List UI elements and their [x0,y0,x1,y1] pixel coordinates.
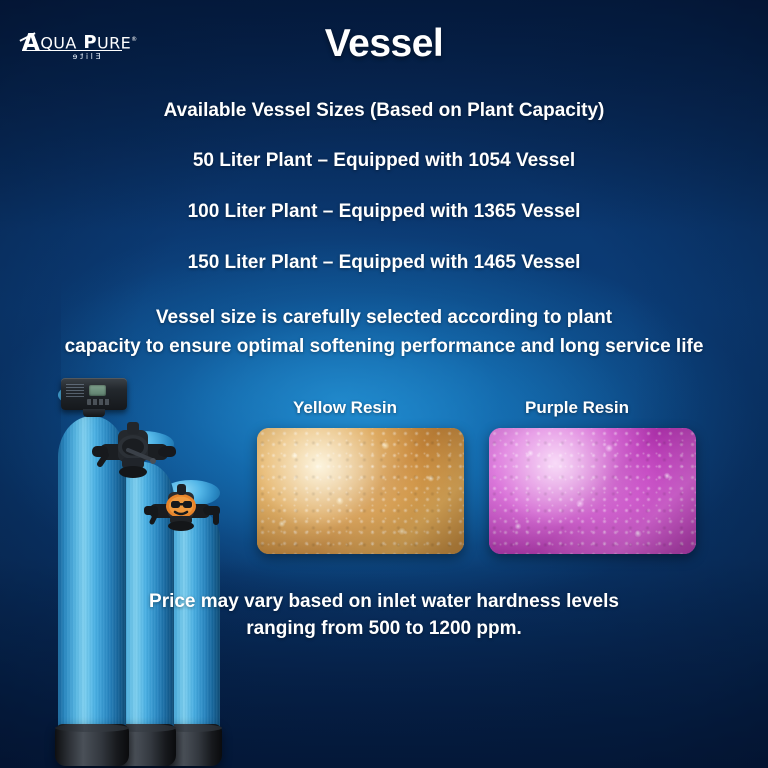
page-title: Vessel [0,22,768,66]
vessel-size-line-1: 50 Liter Plant – Equipped with 1054 Vess… [0,150,768,172]
control-head-buttons [87,399,111,405]
yellow-resin-swatch [257,428,464,554]
purple-resin-swatch [489,428,696,554]
footnote-line-2: ranging from 500 to 1200 ppm. [0,615,768,642]
vessel-size-line-2: 100 Liter Plant – Equipped with 1365 Ves… [0,201,768,223]
control-head-label-panel [66,384,84,397]
yellow-resin-label: Yellow Resin [255,398,435,418]
vessel-size-line-3: 150 Liter Plant – Equipped with 1465 Ves… [0,252,768,274]
purple-resin-label: Purple Resin [487,398,667,418]
purple-swatch-shading [489,428,696,554]
control-head-display [89,385,106,396]
orange-multiport-valve [144,482,220,536]
vessel-selection-note: Vessel size is carefully selected accord… [0,303,768,361]
digital-control-valve-head [61,378,127,410]
note-line-1: Vessel size is carefully selected accord… [0,303,768,332]
note-line-2: capacity to ensure optimal softening per… [0,332,768,361]
vessel-tank-group [44,378,224,762]
footnote-line-1: Price may vary based on inlet water hard… [0,588,768,615]
price-footnote: Price may vary based on inlet water hard… [0,588,768,642]
vessel-infographic-poster: AQUA PURE® Elite Vessel Available Vessel… [0,0,768,768]
manual-multiport-valve [92,422,176,484]
section-heading: Available Vessel Sizes (Based on Plant C… [0,100,768,122]
yellow-swatch-shading [257,428,464,554]
tank-1054-base [55,724,128,766]
